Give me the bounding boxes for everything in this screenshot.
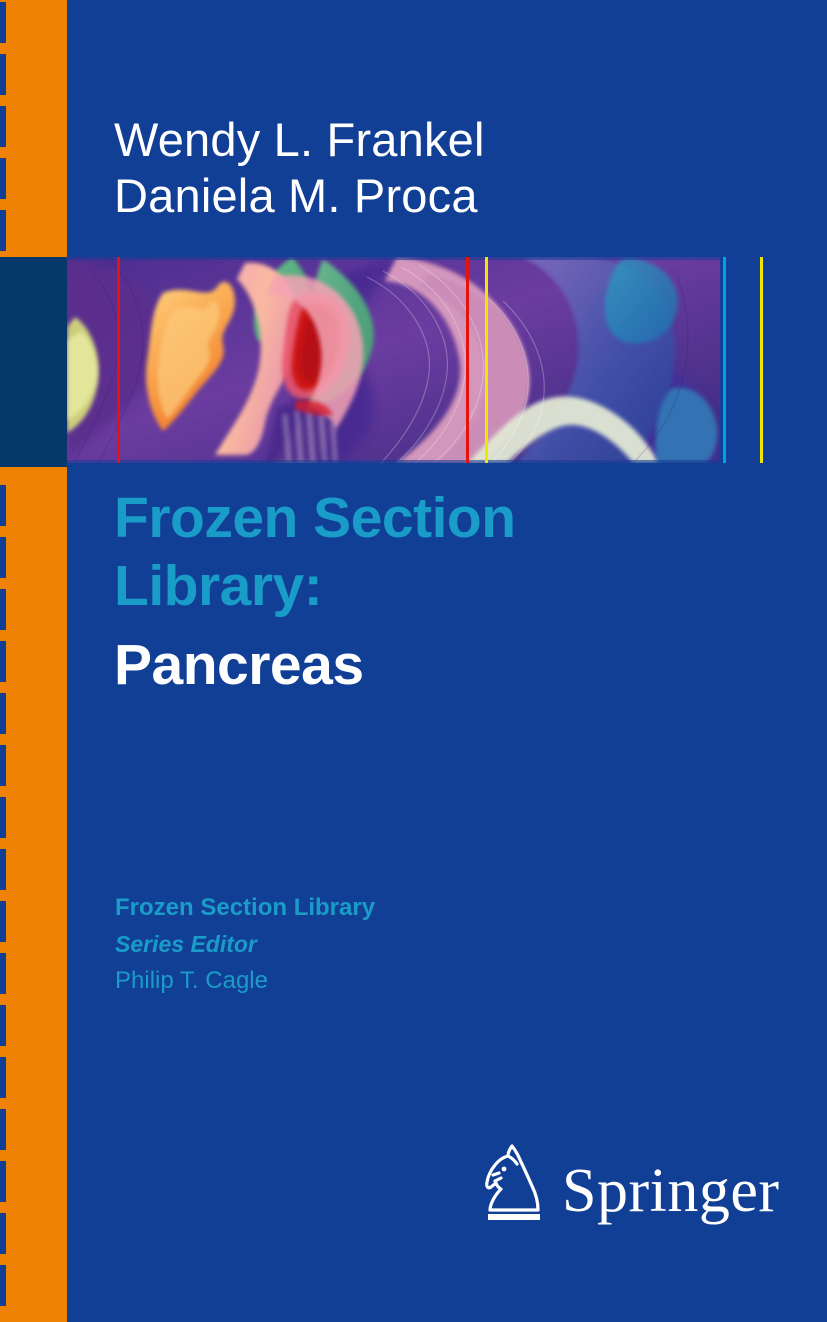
- spine-dash: [0, 1213, 6, 1254]
- spine-dash: [0, 1265, 6, 1306]
- accent-line-yellow-mid: [485, 257, 488, 463]
- author-name: Daniela M. Proca: [114, 168, 485, 224]
- spine-dash: [0, 953, 6, 994]
- histology-image: [67, 257, 720, 463]
- spine-dash: [0, 210, 6, 251]
- springer-wordmark: Springer: [562, 1160, 780, 1222]
- authors-block: Wendy L. Frankel Daniela M. Proca: [114, 112, 485, 224]
- spine-dash: [0, 589, 6, 630]
- accent-line-cyan: [723, 257, 726, 463]
- spine-dash: [0, 106, 6, 147]
- spine-dash: [0, 849, 6, 890]
- title-series-line-2: Library:: [114, 552, 516, 620]
- spine-dash: [0, 797, 6, 838]
- title-subject: Pancreas: [114, 631, 516, 699]
- spine-dash: [0, 745, 6, 786]
- spine-dash: [0, 1005, 6, 1046]
- spine-dash: [0, 693, 6, 734]
- spine-dash: [0, 641, 6, 682]
- book-cover: Wendy L. Frankel Daniela M. Proca: [0, 0, 827, 1322]
- series-name: Frozen Section Library: [115, 890, 375, 926]
- spine-dash: [0, 158, 6, 199]
- spine-dash: [0, 1057, 6, 1098]
- accent-line-red-left: [117, 257, 120, 463]
- spine-dash: [0, 1161, 6, 1202]
- series-role-label: Series Editor: [115, 926, 375, 962]
- accent-line-red-mid: [466, 257, 469, 463]
- author-name: Wendy L. Frankel: [114, 112, 485, 168]
- spine-bar-bottom: [0, 467, 67, 1322]
- publisher-logo: Springer: [482, 1142, 780, 1228]
- title-series-line-1: Frozen Section: [114, 484, 516, 552]
- spine-dash: [0, 537, 6, 578]
- spine-dash: [0, 54, 6, 95]
- spine-dash: [0, 2, 6, 43]
- title-block: Frozen Section Library: Pancreas: [114, 484, 516, 699]
- accent-line-yellow-right: [760, 257, 763, 463]
- spine-bar-top: [0, 0, 67, 257]
- navy-block: [0, 257, 67, 467]
- spine-dash: [0, 901, 6, 942]
- spine-dash: [0, 1109, 6, 1150]
- springer-knight-icon: [482, 1142, 548, 1228]
- cover-art-band: [67, 257, 827, 463]
- spine-dash: [0, 485, 6, 526]
- series-info-block: Frozen Section Library Series Editor Phi…: [115, 890, 375, 999]
- series-editor-name: Philip T. Cagle: [115, 962, 375, 999]
